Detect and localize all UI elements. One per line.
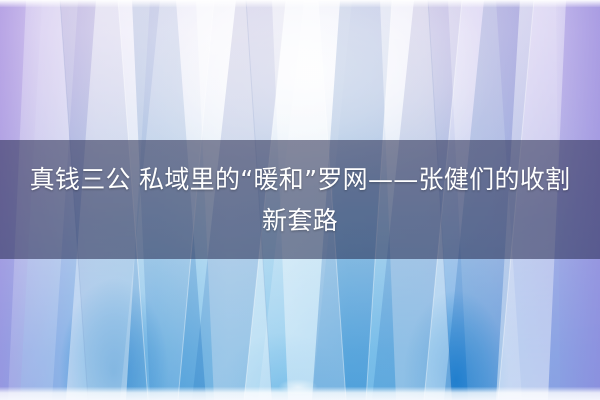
top-edge-band (0, 0, 600, 7)
banner-headline: 真钱三公 私域里的“暖和”罗网——张健们的收割新套路 (20, 159, 580, 241)
bottom-edge-band (0, 387, 600, 400)
caption-band: 真钱三公 私域里的“暖和”罗网——张健们的收割新套路 (0, 140, 600, 259)
article-banner: 真钱三公 私域里的“暖和”罗网——张健们的收割新套路 (0, 0, 600, 400)
